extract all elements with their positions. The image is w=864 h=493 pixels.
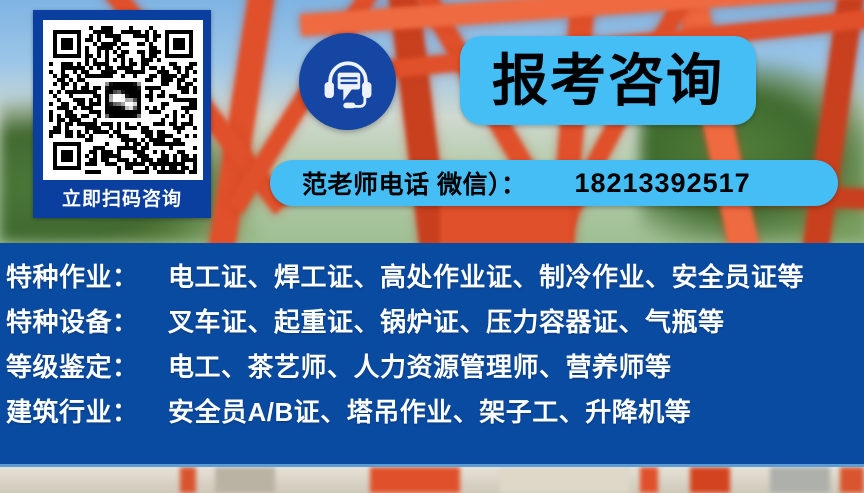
- bottom-photo-strip: [0, 467, 864, 493]
- category-row: 等级鉴定： 电工、茶艺师、人力资源管理师、营养师等: [0, 347, 864, 392]
- category-label: 等级鉴定：: [6, 347, 158, 384]
- strip-beam: [640, 467, 658, 493]
- course-categories-banner: 特种作业： 电工证、焊工证、高处作业证、制冷作业、安全员证等 特种设备： 叉车证…: [0, 243, 864, 465]
- promo-poster: 立即扫码咨询 报考咨询 范老师电话 微信）： 18213392517: [0, 0, 864, 493]
- headset-support-badge: [299, 33, 396, 130]
- qr-code-panel[interactable]: 立即扫码咨询: [33, 10, 211, 218]
- strip-beam: [690, 467, 730, 493]
- strip-beam: [215, 467, 275, 493]
- title-pill: 报考咨询: [460, 36, 756, 125]
- category-value: 叉车证、起重证、锅炉证、压力容器证、气瓶等: [168, 302, 725, 339]
- contact-label: 范老师电话 微信）：: [302, 165, 526, 201]
- category-value: 安全员A/B证、塔吊作业、架子工、升降机等: [168, 392, 691, 429]
- headset-support-icon: [318, 52, 378, 112]
- category-row: 特种设备： 叉车证、起重证、锅炉证、压力容器证、气瓶等: [0, 302, 864, 347]
- contact-phone-pill[interactable]: 范老师电话 微信）： 18213392517: [270, 160, 838, 206]
- strip-beam: [500, 467, 630, 493]
- category-value: 电工、茶艺师、人力资源管理师、营养师等: [168, 347, 672, 384]
- category-row: 建筑行业： 安全员A/B证、塔吊作业、架子工、升降机等: [0, 392, 864, 437]
- strip-beam: [770, 467, 830, 493]
- qr-canvas: [49, 26, 197, 174]
- category-row: 特种作业： 电工证、焊工证、高处作业证、制冷作业、安全员证等: [0, 257, 864, 302]
- qr-caption: 立即扫码咨询: [36, 184, 208, 211]
- strip-beam: [370, 467, 460, 493]
- strip-beam: [180, 467, 196, 493]
- category-label: 特种设备：: [6, 302, 158, 339]
- qr-code-image: [43, 20, 203, 180]
- category-label: 建筑行业：: [6, 392, 158, 429]
- category-label: 特种作业：: [6, 257, 158, 294]
- strip-beam: [840, 467, 864, 493]
- category-value: 电工证、焊工证、高处作业证、制冷作业、安全员证等: [168, 257, 804, 294]
- title-pill-text: 报考咨询: [492, 53, 724, 109]
- contact-phone-number[interactable]: 18213392517: [574, 168, 750, 199]
